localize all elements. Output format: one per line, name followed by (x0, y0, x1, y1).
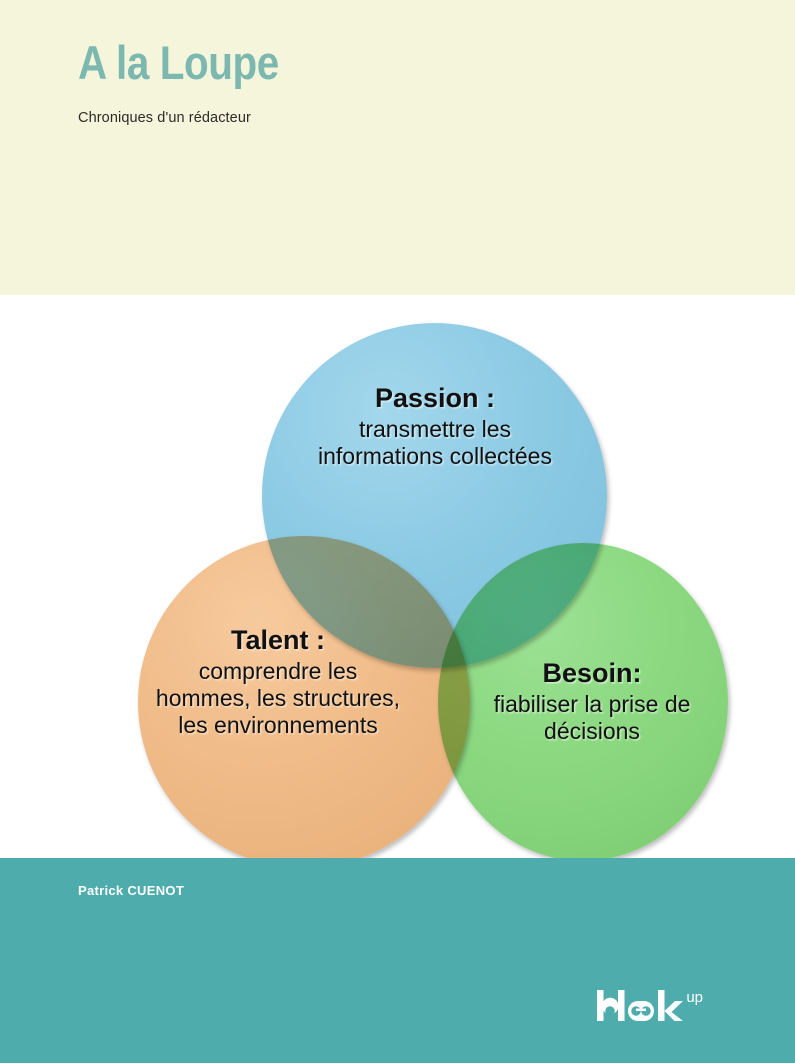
venn-circle-talent (138, 536, 470, 858)
page-title: A la Loupe (78, 38, 279, 87)
venn-circle-besoin (438, 543, 728, 858)
blook-logo-superscript: up (686, 990, 703, 1005)
header-band: A la Loupe Chroniques d'un rédacteur (0, 0, 795, 295)
blook-logo-icon (595, 989, 685, 1023)
book-cover: A la Loupe Chroniques d'un rédacteur Pas… (0, 0, 795, 1063)
book-subtitle: Chroniques d'un rédacteur (78, 110, 251, 126)
publisher-logo: up (595, 989, 703, 1031)
venn-diagram: Passion : transmettre les informations c… (0, 295, 795, 858)
footer-band: Patrick CUENOT up (0, 858, 795, 1063)
author-name: Patrick CUENOT (78, 883, 184, 898)
